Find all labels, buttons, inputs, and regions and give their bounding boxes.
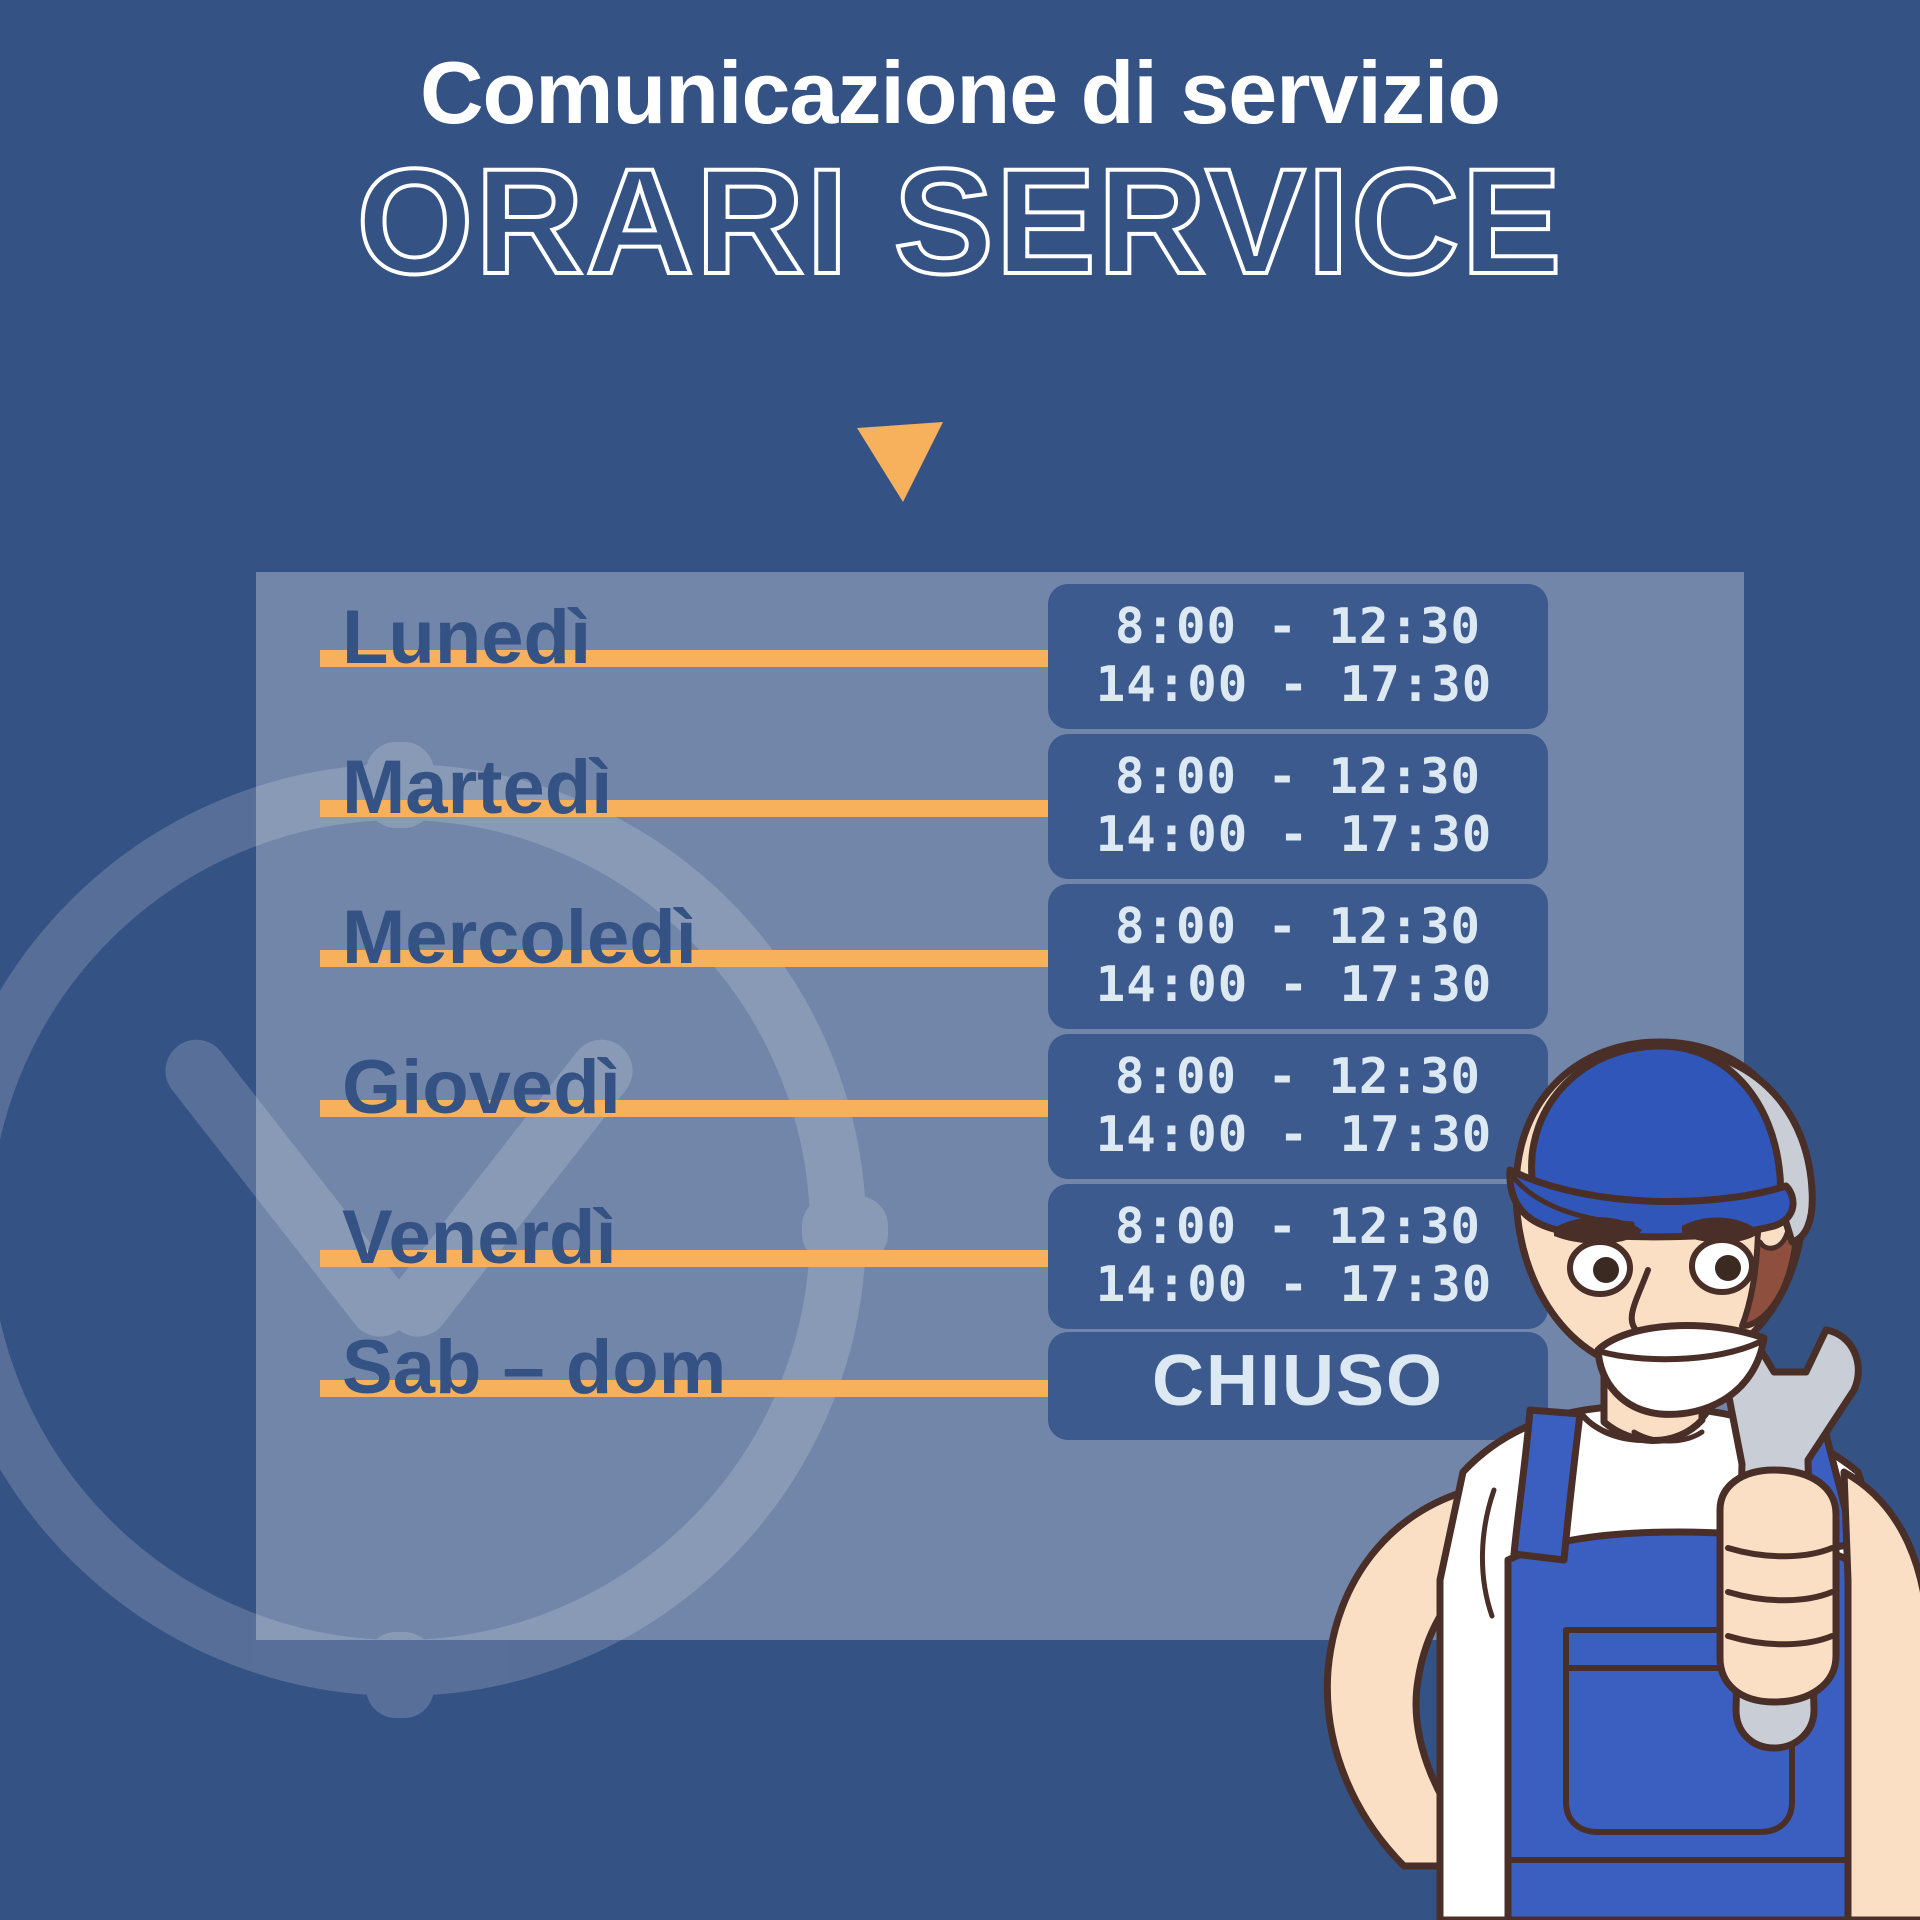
kicker-heading: Comunicazione di servizio [0,0,1920,138]
schedule-row: Lunedì 8:00 - 12:30 14:00 - 17:30 [256,572,1744,742]
poster-canvas: Comunicazione di servizio ORARI SERVICE … [0,0,1920,1920]
day-label: Mercoledì [342,900,1102,976]
schedule-row: Mercoledì 8:00 - 12:30 14:00 - 17:30 [256,872,1744,1042]
header: Comunicazione di servizio ORARI SERVICE [0,0,1920,296]
day-label: Giovedì [342,1050,1102,1126]
page-title: ORARI SERVICE [0,138,1920,296]
hours-badge: 8:00 - 12:30 14:00 - 17:30 [1048,734,1548,879]
mechanic-character-icon [1208,1020,1920,1920]
triangle-down-icon [855,422,945,502]
day-label: Martedì [342,750,1102,826]
schedule-row: Martedì 8:00 - 12:30 14:00 - 17:30 [256,722,1744,892]
hours-badge: 8:00 - 12:30 14:00 - 17:30 [1048,584,1548,729]
hours-afternoon: 14:00 - 17:30 [1040,956,1548,1014]
hours-afternoon: 14:00 - 17:30 [1040,656,1548,714]
hours-morning: 8:00 - 12:30 [1115,748,1481,805]
day-label: Venerdì [342,1200,1102,1276]
hours-morning: 8:00 - 12:30 [1115,598,1481,655]
hours-morning: 8:00 - 12:30 [1115,898,1481,955]
day-label: Lunedì [342,600,1102,676]
hours-afternoon: 14:00 - 17:30 [1040,806,1548,864]
day-label: Sab – dom [342,1330,1102,1406]
hours-badge: 8:00 - 12:30 14:00 - 17:30 [1048,884,1548,1029]
